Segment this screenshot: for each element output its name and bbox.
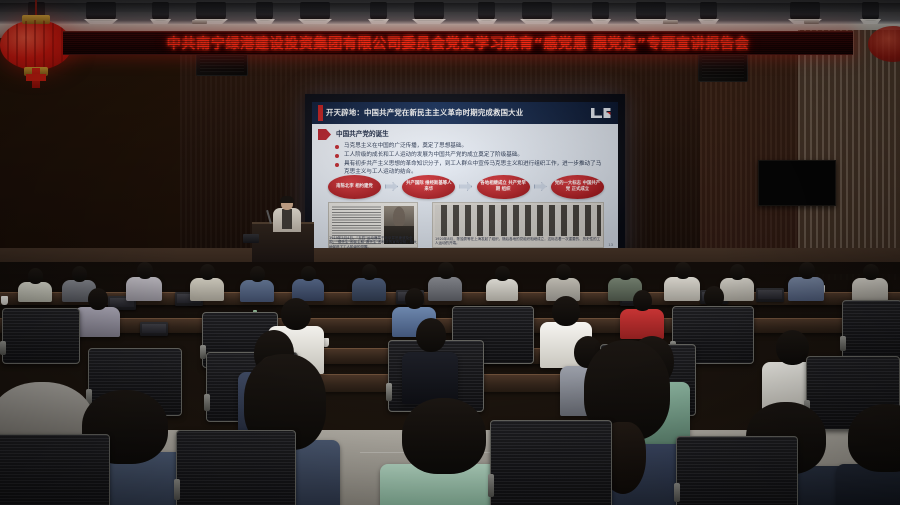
attendee-torso	[486, 279, 518, 301]
ceiling-spotlight-icon	[152, 2, 169, 21]
podium-laptop	[243, 234, 259, 243]
flow-node: 党的一大标志 中国共产党 正式成立	[551, 175, 604, 199]
audience-chair	[842, 300, 900, 360]
attendee	[190, 264, 224, 300]
laptop	[756, 288, 784, 302]
attendee-head	[250, 266, 265, 282]
presenter-shirt	[282, 209, 292, 229]
conference-hall-scene: 中共南宁绿港建设投资集团有限公司委员会党史学习教育“感党恩 跟党走”专题宣讲报告…	[0, 0, 900, 505]
flow-node: 南陈北李 相约建党	[328, 175, 381, 199]
historical-group-photo	[435, 205, 601, 236]
ceiling-light-rail	[0, 3, 900, 12]
attendee-head	[618, 264, 633, 280]
ceiling-spotlight-icon	[862, 2, 879, 21]
ceiling-spotlight-icon	[370, 2, 387, 21]
attendee	[620, 290, 664, 336]
presentation-slide: 开天辟地：中国共产党在新民主主义革命时期完成救国大业 中国共产党的诞生 马克思主…	[312, 102, 618, 252]
attendee-torso	[190, 278, 224, 301]
wall-mounted-display	[758, 160, 836, 206]
slide-subheading-text: 中国共产党的诞生	[336, 129, 389, 140]
ceiling-spotlight-icon	[256, 2, 273, 21]
lantern-ribs	[0, 20, 72, 70]
attendee-torso	[852, 278, 888, 301]
audience-chair-front	[676, 436, 798, 505]
audience-chair-front	[176, 430, 296, 505]
attendee-head	[402, 398, 486, 474]
ceiling-vent	[663, 20, 678, 24]
ceiling-spotlight-icon	[414, 2, 444, 21]
arrow-right-icon	[459, 182, 472, 191]
ceiling-spotlight-icon	[478, 2, 495, 21]
ceiling-spotlight-icon	[522, 2, 552, 21]
attendee-torso	[126, 277, 162, 301]
attendee-torso	[620, 309, 664, 339]
audience-chair-front	[490, 420, 612, 505]
attendee	[402, 318, 458, 398]
attendee-head	[704, 286, 724, 308]
laptop	[140, 322, 168, 336]
flow-node: 各地相继成立 共产党早期 组织	[477, 175, 530, 199]
attendee-head	[137, 262, 153, 279]
far-right-slatted-panel	[798, 30, 900, 280]
slide-bullet-list: 马克思主义在中国的广泛传播，奠定了思想基础。 工人阶级的成长和工人运动的发展为中…	[334, 143, 606, 178]
attendee-torso	[788, 277, 824, 301]
attendee-head	[281, 298, 311, 330]
attendee	[788, 262, 824, 300]
attendee	[292, 266, 324, 300]
attendee-head	[72, 266, 87, 282]
ceiling-spotlight-icon	[300, 2, 330, 21]
slide-flow-diagram: 南陈北李 相约建党 共产国际 维经斯基等人 来华 各地相继成立 共产党早期 组织…	[328, 174, 604, 199]
attendee	[126, 262, 162, 300]
attendee-head	[799, 262, 815, 279]
flow-node: 共产国际 维经斯基等人 来华	[402, 175, 455, 199]
ceiling-vent	[804, 20, 819, 24]
attendee-head	[28, 268, 43, 284]
ceiling-spotlight-icon	[196, 2, 226, 21]
attendee	[546, 264, 580, 300]
attendee-head	[556, 264, 571, 280]
attendee-head	[362, 264, 377, 280]
attendee-head	[863, 264, 879, 280]
ceiling-vent	[192, 20, 207, 24]
photo-right-caption: 1920年8月，陈独秀等在上海发起了组织，随后各地的党组织相继成立，这标志着一次…	[435, 237, 601, 246]
projection-screen: 开天辟地：中国共产党在新民主主义革命时期完成救国大业 中国共产党的诞生 马克思主…	[305, 94, 625, 258]
led-banner-text: 中共南宁绿港建设投资集团有限公司委员会党史学习教育“感党恩 跟党走”专题宣讲报告…	[69, 33, 847, 54]
slide-bullet: 工人阶级的成长和工人运动的发展为中国共产党的成立奠定了阶级基础。	[334, 152, 606, 159]
arrow-right-icon	[534, 182, 547, 191]
ceiling-spotlight-icon	[592, 2, 609, 21]
slide-header-accent	[318, 105, 323, 121]
lantern-tassel	[32, 68, 40, 88]
attendee-head	[776, 330, 809, 365]
slide-title: 开天辟地：中国共产党在新民主主义革命时期完成救国大业	[326, 106, 572, 120]
presenter-hair	[280, 196, 294, 203]
arrow-right-icon	[385, 182, 398, 191]
attendee-torso	[402, 352, 458, 404]
attendee-head	[438, 262, 454, 279]
attendee	[486, 266, 518, 300]
attendee	[852, 264, 888, 300]
slide-bullet: 马克思主义在中国的广泛传播，奠定了思想基础。	[334, 143, 606, 150]
attendee-front	[836, 404, 900, 505]
attendee	[240, 266, 274, 300]
slide-header: 开天辟地：中国共产党在新民主主义革命时期完成救国大业	[312, 102, 618, 124]
lg-corporate-logo-icon	[589, 106, 611, 120]
attendee-head	[405, 288, 424, 309]
slide-page-number: 13	[608, 243, 613, 247]
led-banner: 中共南宁绿港建设投资集团有限公司委员会党史学习教育“感党恩 跟党走”专题宣讲报告…	[63, 31, 853, 55]
pennant-icon	[318, 129, 331, 140]
historical-group-photo-block: 1920年8月，陈独秀等在上海发起了组织，随后各地的党组织相继成立，这标志着一次…	[432, 202, 604, 248]
attendee-head	[416, 318, 446, 352]
ceiling-spotlight-icon	[790, 2, 820, 21]
attendee-head	[633, 290, 652, 311]
attendee	[352, 264, 386, 300]
ceiling-spotlight-icon	[86, 2, 116, 21]
attendee-head	[301, 266, 316, 281]
attendee-head	[848, 404, 900, 472]
attendee-head	[495, 266, 510, 281]
attendee-torso	[352, 278, 386, 301]
attendee-head	[200, 264, 215, 280]
red-chinese-lantern-icon	[0, 20, 72, 70]
audience-chair-front	[0, 434, 110, 505]
ceiling-spotlight-icon	[700, 2, 717, 21]
ceiling-spotlight-icon	[636, 2, 666, 21]
attendee-head	[675, 262, 691, 279]
presenter-at-podium	[272, 197, 302, 231]
attendee-head	[552, 296, 580, 326]
attendee-head	[730, 264, 745, 280]
slide-subheading: 中国共产党的诞生	[328, 129, 528, 140]
